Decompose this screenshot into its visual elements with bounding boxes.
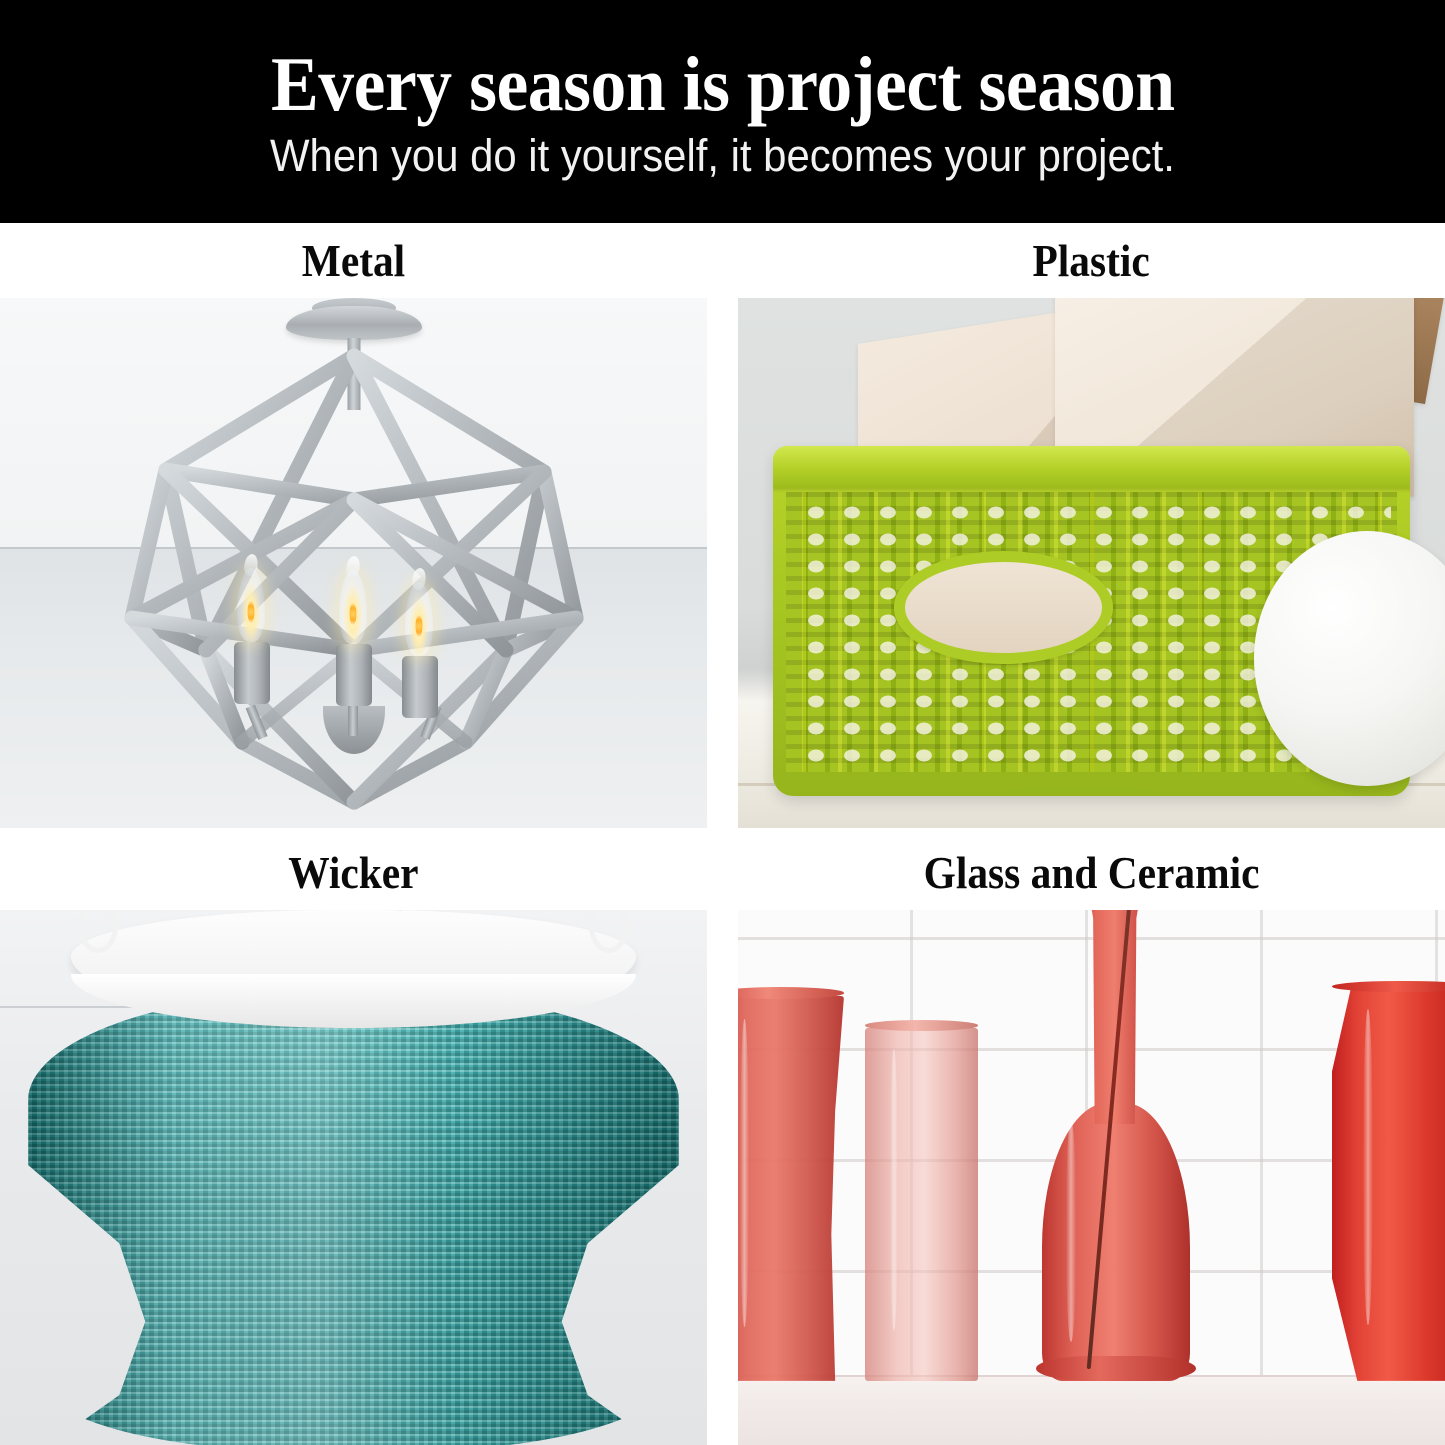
wicker-sheen	[28, 990, 678, 1445]
cell-label-plastic: Plastic	[738, 223, 1445, 298]
vase-highlight	[1363, 1009, 1373, 1326]
cell-label-wicker: Wicker	[0, 835, 707, 910]
photo-glass-vases	[738, 910, 1445, 1445]
basket-rim	[773, 446, 1409, 488]
material-grid: Metal	[0, 223, 1445, 1445]
ceiling-canopy	[286, 298, 422, 342]
bulb-flame-tip	[411, 567, 427, 591]
vase-pink-cylinder	[865, 1028, 978, 1381]
photo-plastic-basket	[738, 298, 1445, 828]
bulb-socket-center	[336, 644, 372, 706]
bulb-socket-left	[234, 642, 270, 704]
bulb-flame-tip	[243, 553, 259, 577]
bulb-flame-tip	[345, 555, 361, 579]
candelabra-arm-center	[348, 706, 358, 736]
header-banner: Every season is project season When you …	[0, 0, 1445, 223]
photo-wicker-stool	[0, 910, 707, 1445]
grid-cell-glass-and-ceramic[interactable]: Glass and Ceramic	[738, 835, 1445, 1445]
canopy-plate	[286, 306, 422, 340]
candelabra-arm-left	[245, 705, 267, 740]
candle-bulb-center	[339, 570, 367, 644]
vase-highlight	[890, 1049, 898, 1331]
grid-cell-wicker[interactable]: Wicker	[0, 835, 707, 1445]
bulb-socket-right	[402, 656, 438, 718]
bottle-body	[1042, 1103, 1190, 1381]
candle-bulb-left	[237, 568, 265, 642]
candle-bulb-right	[405, 582, 433, 656]
grid-cell-metal[interactable]: Metal	[0, 223, 707, 828]
teal-wicker-stool	[28, 990, 678, 1445]
photo-metal-light-fixture	[0, 298, 707, 828]
page-title: Every season is project season	[271, 46, 1175, 123]
vase-highlight	[1066, 1119, 1076, 1342]
cell-label-metal: Metal	[0, 223, 707, 298]
infographic-page: Every season is project season When you …	[0, 0, 1445, 1445]
counter-surface	[738, 1375, 1445, 1445]
vase-pink-rim	[865, 1020, 978, 1031]
vase-coral-flared	[738, 996, 844, 1381]
bottle-foot	[1036, 1356, 1196, 1381]
basket-handle-cutout	[894, 551, 1113, 664]
vase-highlight	[740, 1019, 749, 1327]
vase-red-bottle	[1042, 910, 1190, 1381]
page-subtitle: When you do it yourself, it becomes your…	[270, 133, 1175, 178]
vase-red-faceted	[1332, 985, 1445, 1381]
cell-label-glass-and-ceramic: Glass and Ceramic	[738, 835, 1445, 910]
candelabra-bulb-cluster	[204, 508, 504, 748]
grid-cell-plastic[interactable]: Plastic	[738, 223, 1445, 828]
